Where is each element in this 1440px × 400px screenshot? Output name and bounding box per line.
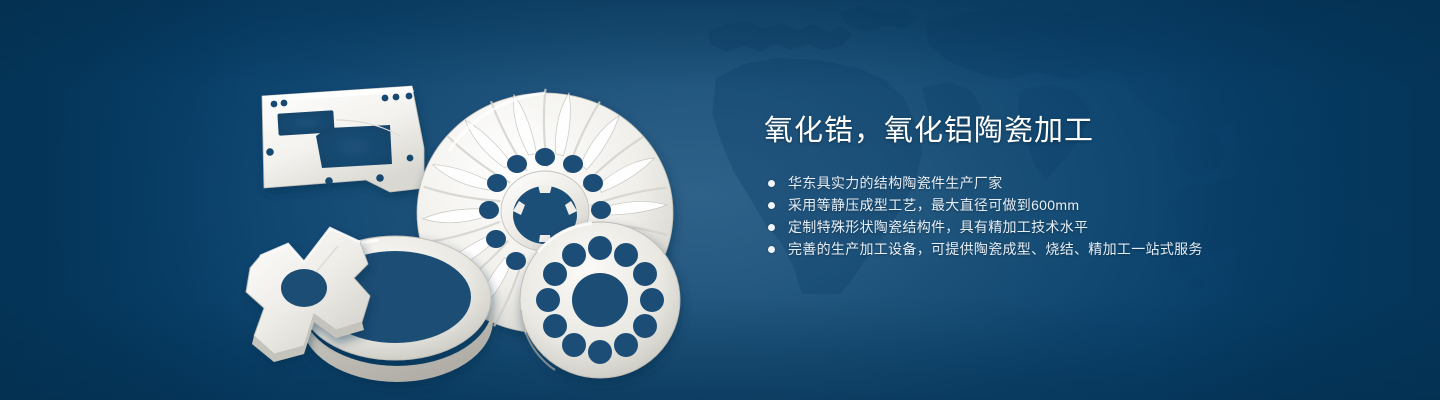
list-item: 完善的生产加工设备，可提供陶瓷成型、烧结、精加工一站式服务 — [766, 238, 1384, 260]
bullet-dot-icon — [768, 180, 775, 187]
product-photo — [240, 28, 700, 378]
bullet-dot-icon — [768, 246, 775, 253]
list-item: 华东具实力的结构陶瓷件生产厂家 — [766, 172, 1384, 194]
bullet-dot-icon — [768, 224, 775, 231]
ceramic-perforated-disc-part — [520, 222, 680, 378]
list-item: 定制特殊形状陶瓷结构件，具有精加工技术水平 — [766, 216, 1384, 238]
list-item-label: 采用等静压成型工艺，最大直径可做到600mm — [788, 197, 1079, 213]
bullet-dot-icon — [768, 202, 775, 209]
list-item-label: 华东具实力的结构陶瓷件生产厂家 — [788, 175, 1003, 191]
list-item: 采用等静压成型工艺，最大直径可做到600mm — [766, 194, 1384, 216]
feature-list: 华东具实力的结构陶瓷件生产厂家 采用等静压成型工艺，最大直径可做到600mm 定… — [766, 172, 1384, 260]
ceramic-plate-part — [262, 86, 424, 192]
hero-banner: 氧化锆，氧化铝陶瓷加工 华东具实力的结构陶瓷件生产厂家 采用等静压成型工艺，最大… — [0, 0, 1440, 400]
list-item-label: 定制特殊形状陶瓷结构件，具有精加工技术水平 — [788, 219, 1088, 235]
list-item-label: 完善的生产加工设备，可提供陶瓷成型、烧结、精加工一站式服务 — [788, 241, 1203, 257]
page-title: 氧化锆，氧化铝陶瓷加工 — [764, 112, 1384, 150]
banner-copy: 氧化锆，氧化铝陶瓷加工 华东具实力的结构陶瓷件生产厂家 采用等静压成型工艺，最大… — [764, 112, 1384, 260]
